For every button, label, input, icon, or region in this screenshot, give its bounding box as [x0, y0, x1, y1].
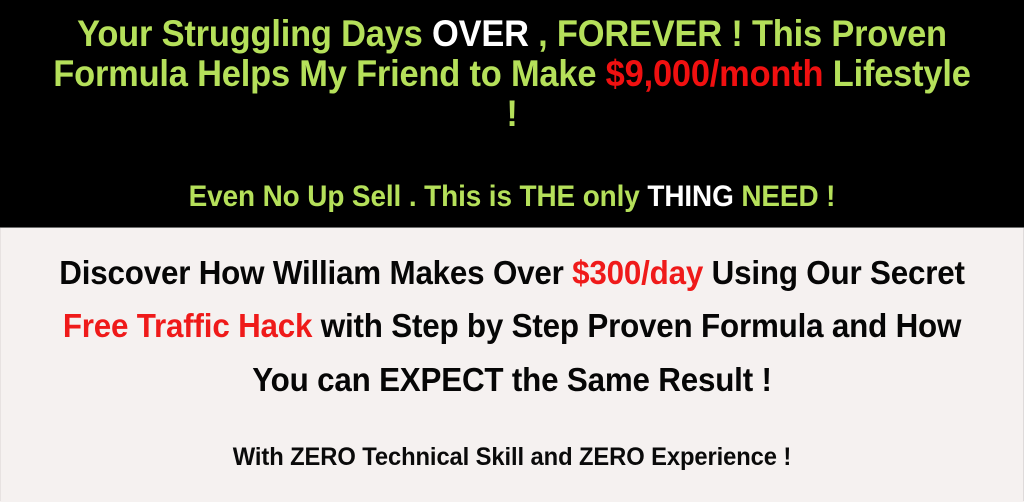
offer-spacer: [15, 406, 1009, 442]
offer-footnote: With ZERO Technical Skill and ZERO Exper…: [40, 442, 984, 472]
hero-subline-part-3: NEED !: [734, 180, 836, 213]
hero-subline-thing-highlight: THING: [647, 180, 733, 213]
offer-headline-part-5: with Step by Step Proven Formula and How…: [252, 307, 961, 397]
offer-headline: Discover How William Makes Over $300/day…: [40, 246, 984, 406]
hero-subline-part-1: Even No Up Sell . This is THE only: [189, 180, 648, 213]
hero-headline-part-1: Your Struggling Days: [77, 13, 432, 54]
offer-description-section: Discover How William Makes Over $300/day…: [0, 228, 1024, 501]
offer-headline-free-traffic-hack: Free Traffic Hack: [63, 307, 312, 344]
hero-headline: Your Struggling Days OVER , FOREVER ! Th…: [43, 14, 980, 134]
sales-page-root: Your Struggling Days OVER , FOREVER ! Th…: [0, 0, 1024, 502]
offer-headline-part-3: Using Our Secret: [703, 254, 965, 291]
hero-spacer: [8, 134, 1016, 180]
hero-subline: Even No Up Sell . This is THE only THING…: [43, 180, 980, 213]
hero-banner: Your Struggling Days OVER , FOREVER ! Th…: [0, 0, 1024, 228]
hero-headline-over-highlight: OVER: [432, 13, 529, 54]
offer-headline-part-1: Discover How William Makes Over: [59, 254, 572, 291]
offer-headline-daily-earnings: $300/day: [572, 254, 703, 291]
hero-headline-earnings-amount: $9,000/month: [606, 53, 824, 94]
